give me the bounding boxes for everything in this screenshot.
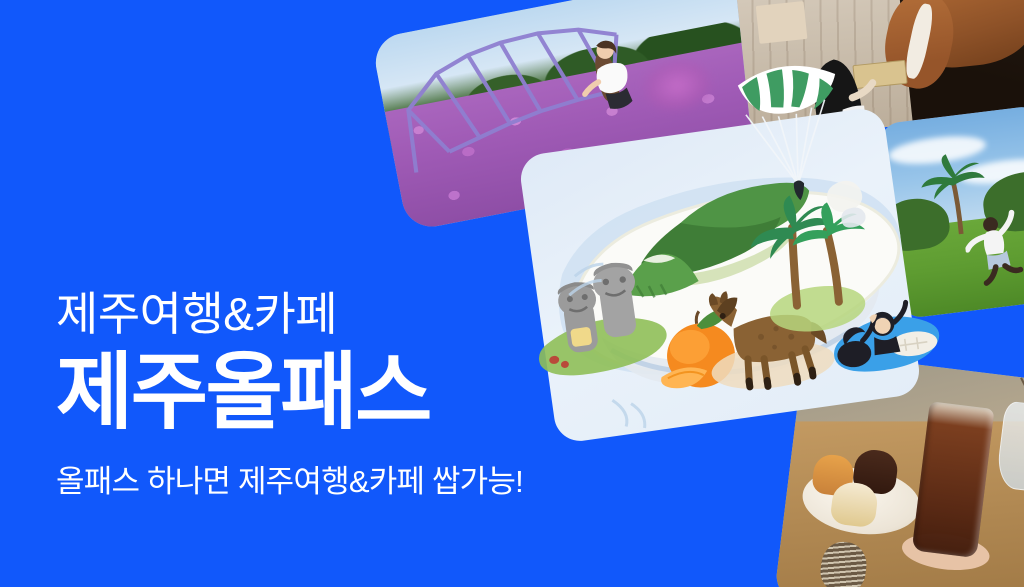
wall-plaque [756,1,808,44]
eyebrow-text: 제주여행&카페 [56,286,523,342]
jumping-person [961,203,1024,291]
subline-text: 올패스 하나면 제주여행&카페 쌉가능! [56,462,523,502]
jeju-island-map [478,55,968,502]
headline-text: 제주올패스 [56,344,523,440]
jeju-island-illustration[interactable] [518,106,923,444]
jeju-allpass-promo-banner: 제주여행&카페 제주올패스 올패스 하나면 제주여행&카페 쌉가능! [0,0,1024,587]
dried-branches [995,360,1024,433]
promo-text-block: 제주여행&카페 제주올패스 올패스 하나면 제주여행&카페 쌉가능! [56,286,523,502]
